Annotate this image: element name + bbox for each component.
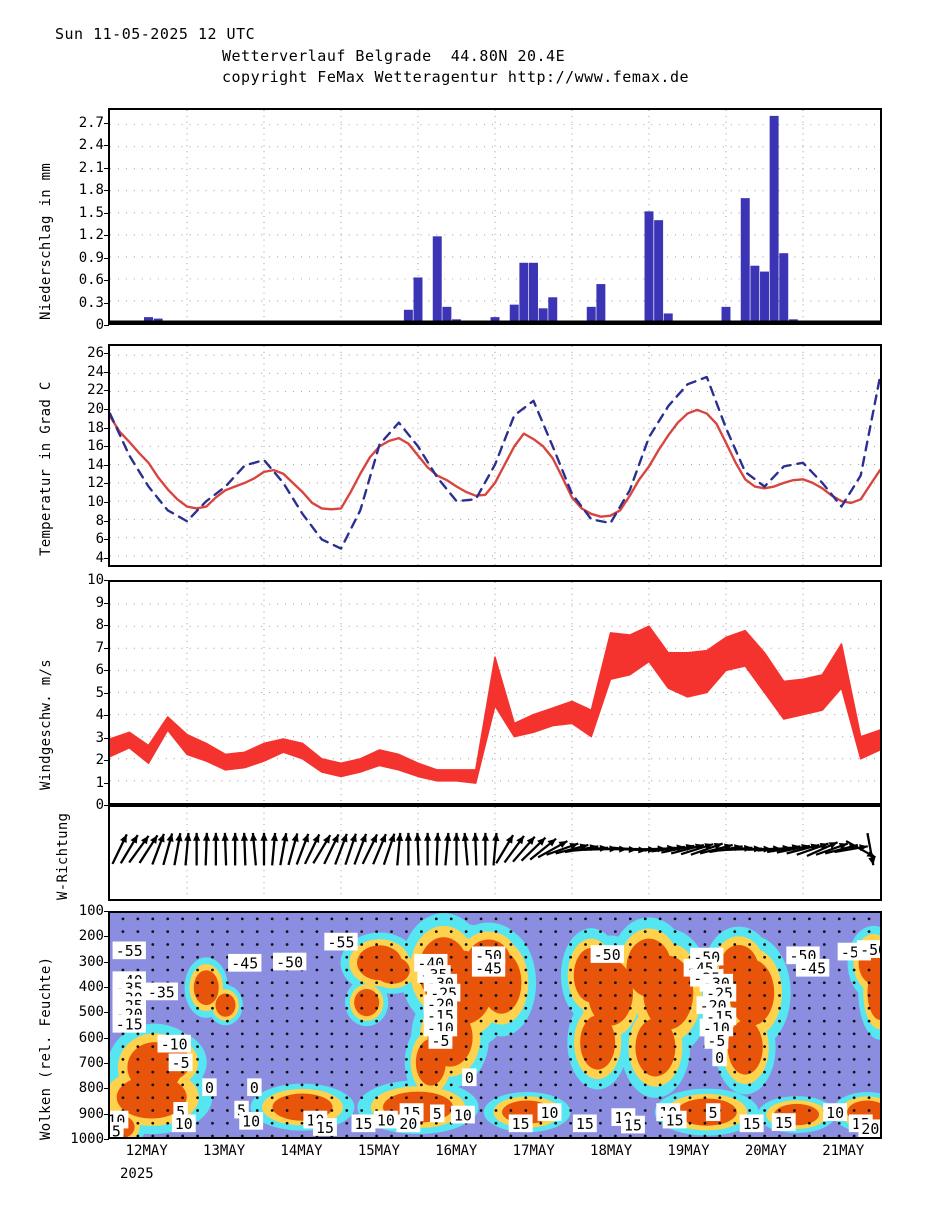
y-tick-label: 0.9 [60, 250, 104, 266]
svg-text:-5: -5 [431, 1033, 449, 1050]
precip-axis-label: Niederschlag in mm [38, 163, 54, 320]
xaxis-date-label: 19MAY [667, 1143, 709, 1159]
y-tick-label: 0.6 [60, 272, 104, 288]
temperature-panel [108, 344, 882, 567]
y-tick-mark [104, 1139, 109, 1140]
svg-text:-5: -5 [707, 1033, 725, 1050]
svg-text:10: 10 [377, 1113, 395, 1130]
y-tick-label: 900 [60, 1106, 104, 1122]
y-tick-label: 9 [60, 595, 104, 611]
svg-text:15: 15 [775, 1115, 793, 1132]
y-tick-label: 18 [60, 420, 104, 436]
y-tick-label: 600 [60, 1030, 104, 1046]
y-tick-label: 100 [60, 903, 104, 919]
svg-text:10: 10 [826, 1105, 844, 1122]
windspeed-panel [108, 580, 882, 805]
svg-text:-55: -55 [116, 943, 143, 960]
y-tick-label: 10 [60, 494, 104, 510]
xaxis-date-label: 12MAY [126, 1143, 168, 1159]
windspeed-plot [110, 582, 880, 803]
xaxis-date-label: 20MAY [745, 1143, 787, 1159]
svg-text:-50: -50 [594, 947, 621, 964]
svg-text:0: 0 [465, 1070, 474, 1087]
svg-text:-45: -45 [475, 961, 502, 978]
y-tick-label: 2 [60, 752, 104, 768]
svg-text:15: 15 [576, 1116, 594, 1133]
xaxis-date-label: 15MAY [358, 1143, 400, 1159]
y-tick-label: 4 [60, 707, 104, 723]
y-tick-label: 24 [60, 364, 104, 380]
svg-text:-35: -35 [148, 984, 175, 1001]
svg-text:5: 5 [709, 1105, 718, 1122]
svg-text:-45: -45 [231, 956, 258, 973]
y-tick-label: 0 [60, 797, 104, 813]
xaxis-date-label: 18MAY [590, 1143, 632, 1159]
svg-text:15: 15 [354, 1116, 372, 1133]
y-tick-label: 200 [60, 928, 104, 944]
y-tick-label: 5 [60, 685, 104, 701]
svg-text:0: 0 [250, 1080, 259, 1097]
precipitation-plot [110, 110, 880, 323]
svg-text:0: 0 [715, 1050, 724, 1067]
svg-text:20: 20 [399, 1116, 417, 1133]
xaxis-date-label: 17MAY [513, 1143, 555, 1159]
y-tick-label: 6 [60, 531, 104, 547]
y-tick-label: 4 [60, 550, 104, 566]
y-tick-label: 8 [60, 513, 104, 529]
y-tick-label: 1 [60, 775, 104, 791]
y-tick-label: 700 [60, 1055, 104, 1071]
svg-text:15: 15 [743, 1116, 761, 1133]
y-tick-mark [104, 325, 109, 326]
temp-axis-label: Temperatur in Grad C [38, 381, 54, 556]
svg-text:5: 5 [112, 1124, 121, 1137]
svg-text:5: 5 [433, 1106, 442, 1123]
y-tick-label: 0 [60, 317, 104, 333]
wind-axis-label: Windgeschw. m/s [38, 659, 54, 790]
svg-text:15: 15 [512, 1116, 530, 1133]
y-tick-label: 1.8 [60, 182, 104, 198]
cloud-axis-label: Wolken (rel. Feuchte) [38, 957, 54, 1140]
winddir-axis-label: W-Richtung [55, 813, 71, 900]
y-tick-label: 14 [60, 457, 104, 473]
y-tick-label: 1000 [60, 1131, 104, 1147]
svg-text:10: 10 [454, 1108, 472, 1125]
y-tick-label: 8 [60, 617, 104, 633]
header-block: Sun 11-05-2025 12 UTC Wetterverlauf Belg… [0, 0, 940, 100]
xaxis-date-label: 13MAY [203, 1143, 245, 1159]
svg-text:10: 10 [175, 1116, 193, 1133]
svg-text:-50: -50 [276, 955, 303, 972]
svg-text:-50: -50 [860, 942, 880, 959]
svg-text:-55: -55 [328, 935, 355, 952]
svg-text:10: 10 [541, 1105, 559, 1122]
header-title: Wetterverlauf Belgrade 44.80N 20.4E [222, 47, 565, 65]
y-tick-label: 12 [60, 475, 104, 491]
y-tick-label: 2.7 [60, 115, 104, 131]
xaxis-date-label: 14MAY [280, 1143, 322, 1159]
winddirection-plot [110, 807, 880, 899]
temperature-plot [110, 346, 880, 565]
svg-text:-10: -10 [161, 1037, 188, 1054]
y-tick-label: 2.4 [60, 137, 104, 153]
svg-text:-5: -5 [172, 1055, 190, 1072]
precipitation-panel [108, 108, 882, 325]
y-tick-label: 300 [60, 954, 104, 970]
cloud-humidity-panel: -55-40-35-30-25-20-15-10-50510105-45-50-… [108, 911, 882, 1139]
y-tick-label: 7 [60, 640, 104, 656]
winddirection-panel [108, 805, 882, 901]
svg-text:10: 10 [242, 1114, 260, 1131]
svg-text:15: 15 [624, 1118, 642, 1135]
y-tick-label: 800 [60, 1080, 104, 1096]
svg-text:20: 20 [861, 1121, 879, 1137]
cloud-humidity-plot: -55-40-35-30-25-20-15-10-50510105-45-50-… [110, 913, 880, 1137]
y-tick-label: 6 [60, 662, 104, 678]
y-tick-label: 3 [60, 730, 104, 746]
y-tick-label: 26 [60, 345, 104, 361]
svg-text:-15: -15 [116, 1017, 143, 1034]
header-copyright: copyright FeMax Wetteragentur http://www… [222, 68, 689, 86]
y-tick-label: 500 [60, 1004, 104, 1020]
y-tick-label: 0.3 [60, 295, 104, 311]
y-tick-label: 22 [60, 382, 104, 398]
y-tick-label: 16 [60, 438, 104, 454]
svg-text:0: 0 [205, 1080, 214, 1097]
y-tick-label: 2.1 [60, 160, 104, 176]
xaxis-date-label: 16MAY [435, 1143, 477, 1159]
y-tick-label: 20 [60, 401, 104, 417]
svg-text:-45: -45 [799, 961, 826, 978]
xaxis-date-label: 21MAY [822, 1143, 864, 1159]
svg-text:15: 15 [666, 1113, 684, 1130]
y-tick-label: 10 [60, 572, 104, 588]
header-datetime: Sun 11-05-2025 12 UTC [55, 25, 255, 43]
y-tick-label: 400 [60, 979, 104, 995]
y-tick-label: 1.5 [60, 205, 104, 221]
xaxis-year-label: 2025 [120, 1166, 154, 1182]
y-tick-label: 1.2 [60, 227, 104, 243]
svg-text:15: 15 [316, 1120, 334, 1137]
